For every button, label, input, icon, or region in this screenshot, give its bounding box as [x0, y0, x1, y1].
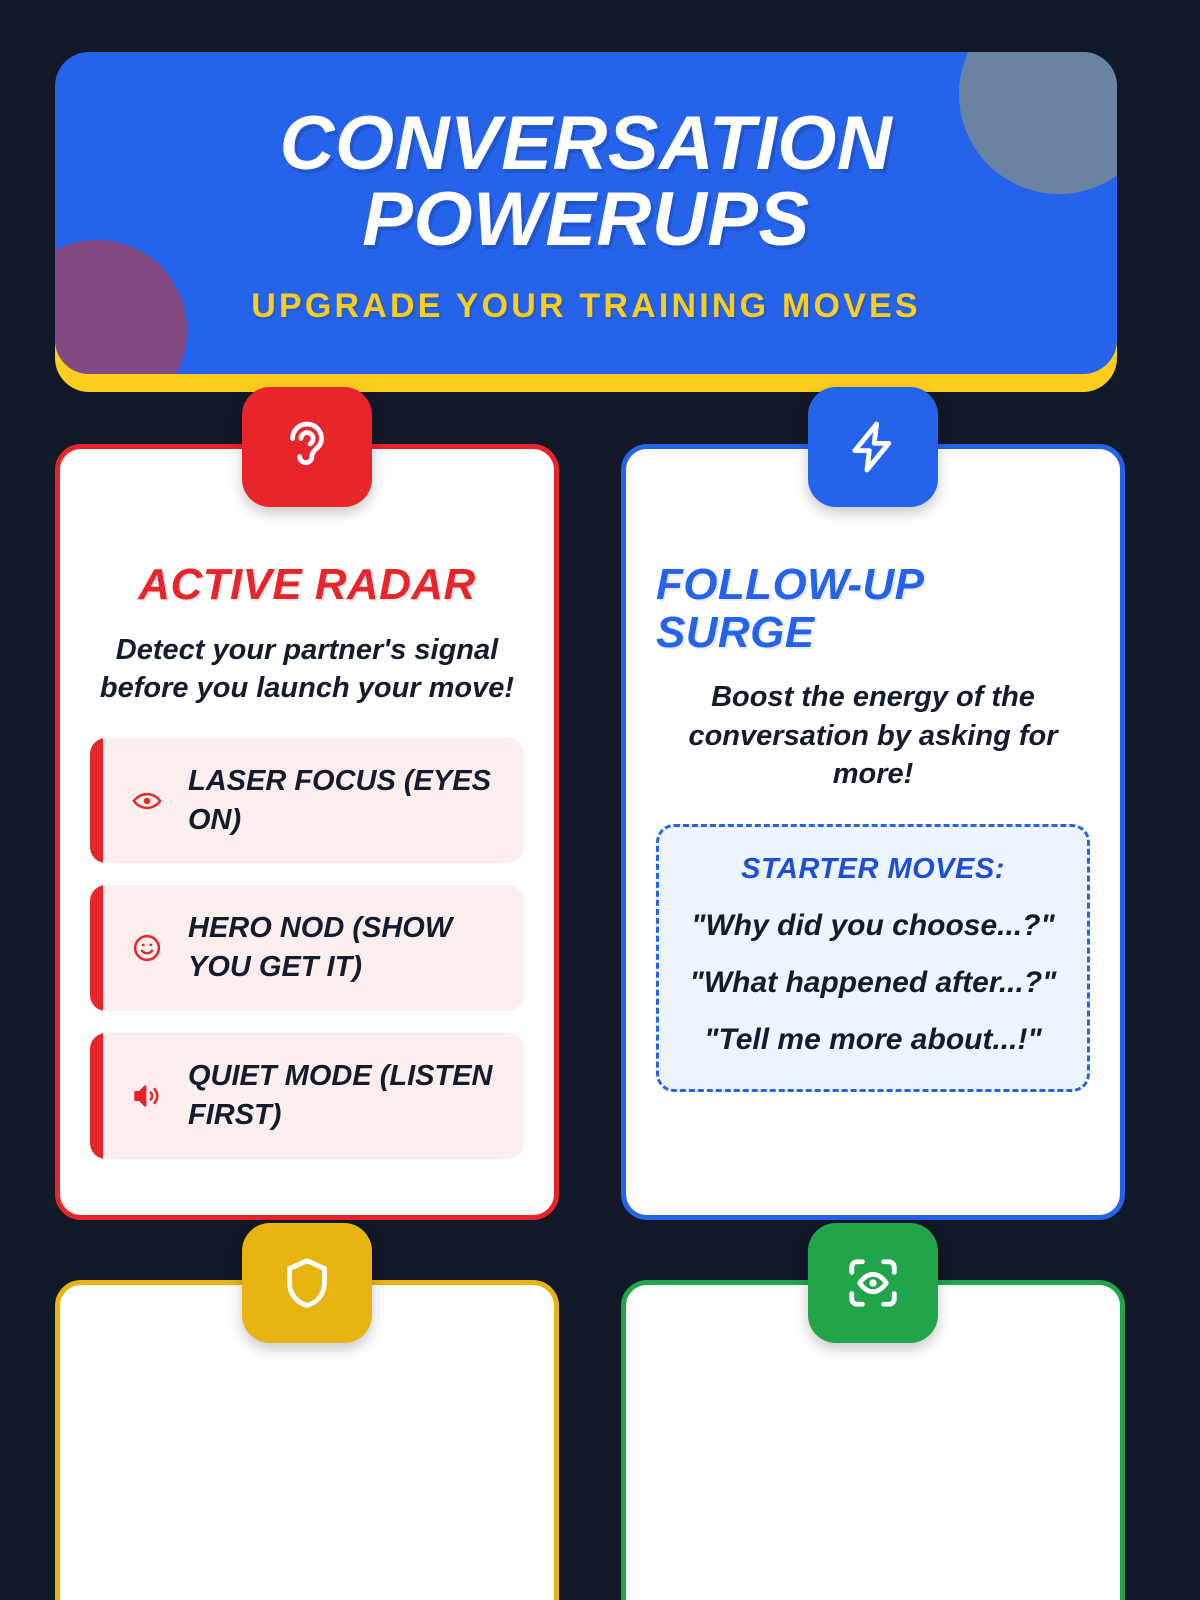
- list-item-label: LASER FOCUS (EYES ON): [188, 762, 498, 840]
- card-active-radar[interactable]: ACTIVE RADAR Detect your partner's signa…: [55, 444, 559, 1220]
- card-description: Boost the energy of the conversation by …: [656, 678, 1090, 794]
- starter-moves-box: STARTER MOVES: "Why did you choose...?" …: [656, 824, 1090, 1092]
- starter-move-item: "Why did you choose...?": [683, 906, 1063, 945]
- starter-move-item: "Tell me more about...!": [683, 1020, 1063, 1059]
- list-item-label: HERO NOD (SHOW YOU GET IT): [188, 909, 498, 987]
- page-title: CONVERSATION POWERUPS: [246, 106, 926, 256]
- infographic-page: CONVERSATION POWERUPS UPGRADE YOUR TRAIN…: [0, 0, 1200, 1600]
- list-item-label: QUIET MODE (LISTEN FIRST): [188, 1057, 498, 1135]
- card-scan-eye[interactable]: [621, 1280, 1125, 1600]
- header-banner: CONVERSATION POWERUPS UPGRADE YOUR TRAIN…: [55, 52, 1117, 392]
- lightning-bolt-icon: [808, 387, 938, 507]
- speaker-icon: [130, 1079, 164, 1113]
- card-title: ACTIVE RADAR: [90, 561, 524, 609]
- eye-icon: [130, 784, 164, 818]
- starter-moves-title: STARTER MOVES:: [683, 853, 1063, 886]
- card-shield[interactable]: [55, 1280, 559, 1600]
- scan-eye-icon: [808, 1223, 938, 1343]
- shield-icon: [242, 1223, 372, 1343]
- list-item[interactable]: HERO NOD (SHOW YOU GET IT): [90, 885, 524, 1011]
- list-item[interactable]: LASER FOCUS (EYES ON): [90, 738, 524, 864]
- header-panel: CONVERSATION POWERUPS UPGRADE YOUR TRAIN…: [55, 52, 1117, 374]
- card-description: Detect your partner's signal before you …: [90, 631, 524, 708]
- page-subtitle: UPGRADE YOUR TRAINING MOVES: [251, 287, 921, 326]
- card-grid: ACTIVE RADAR Detect your partner's signa…: [55, 444, 1125, 1600]
- ear-icon: [242, 387, 372, 507]
- smiley-icon: [130, 931, 164, 965]
- card-title: FOLLOW-UP SURGE: [656, 561, 1090, 656]
- starter-move-item: "What happened after...?": [683, 963, 1063, 1002]
- card-follow-up-surge[interactable]: FOLLOW-UP SURGE Boost the energy of the …: [621, 444, 1125, 1220]
- list-item[interactable]: QUIET MODE (LISTEN FIRST): [90, 1033, 524, 1159]
